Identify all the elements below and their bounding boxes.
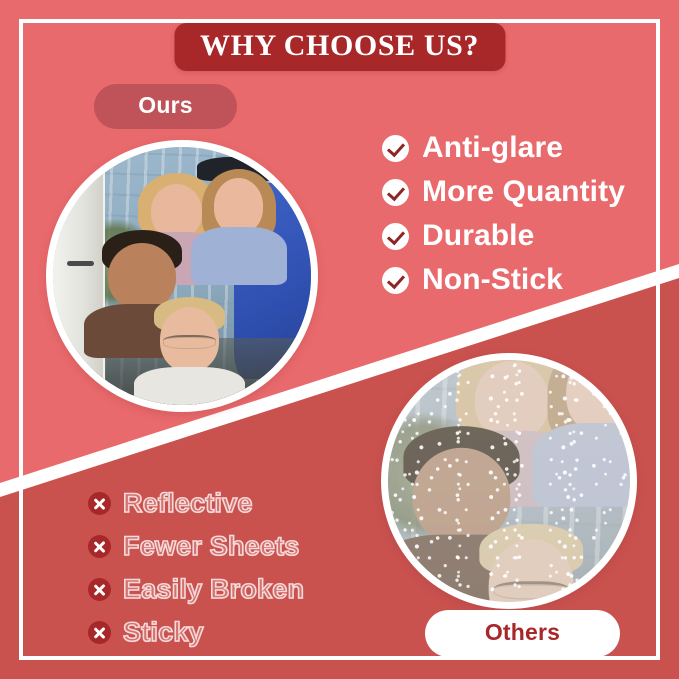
feature-label: Easily Broken — [123, 576, 304, 603]
others-label-badge: Others — [425, 610, 620, 657]
x-icon — [88, 492, 111, 515]
list-item: Sticky — [88, 611, 304, 654]
feature-label: Durable — [422, 221, 534, 251]
check-icon — [382, 179, 409, 206]
list-item: Non-Stick — [382, 258, 625, 302]
list-item: Anti-glare — [382, 126, 625, 170]
check-icon — [382, 223, 409, 250]
ours-label-badge: Ours — [94, 84, 237, 129]
others-photo-scene — [388, 360, 630, 602]
others-feature-list: Reflective Fewer Sheets Easily Broken St… — [88, 482, 304, 654]
x-icon — [88, 535, 111, 558]
check-icon — [382, 267, 409, 294]
list-item: Durable — [382, 214, 625, 258]
list-item: Reflective — [88, 482, 304, 525]
ours-photo — [46, 140, 318, 412]
x-icon — [88, 621, 111, 644]
ours-feature-list: Anti-glare More Quantity Durable Non-Sti… — [382, 126, 625, 302]
list-item: More Quantity — [382, 170, 625, 214]
feature-label: Reflective — [123, 490, 253, 517]
list-item: Fewer Sheets — [88, 525, 304, 568]
ours-photo-scene — [53, 147, 311, 405]
feature-label: Sticky — [123, 619, 204, 646]
why-choose-us-poster: WHY CHOOSE US? Ours — [0, 0, 679, 679]
feature-label: More Quantity — [422, 177, 625, 207]
list-item: Easily Broken — [88, 568, 304, 611]
others-photo — [381, 353, 637, 609]
feature-label: Non-Stick — [422, 265, 563, 295]
page-title: WHY CHOOSE US? — [174, 23, 505, 71]
feature-label: Fewer Sheets — [123, 533, 299, 560]
feature-label: Anti-glare — [422, 133, 563, 163]
x-icon — [88, 578, 111, 601]
check-icon — [382, 135, 409, 162]
